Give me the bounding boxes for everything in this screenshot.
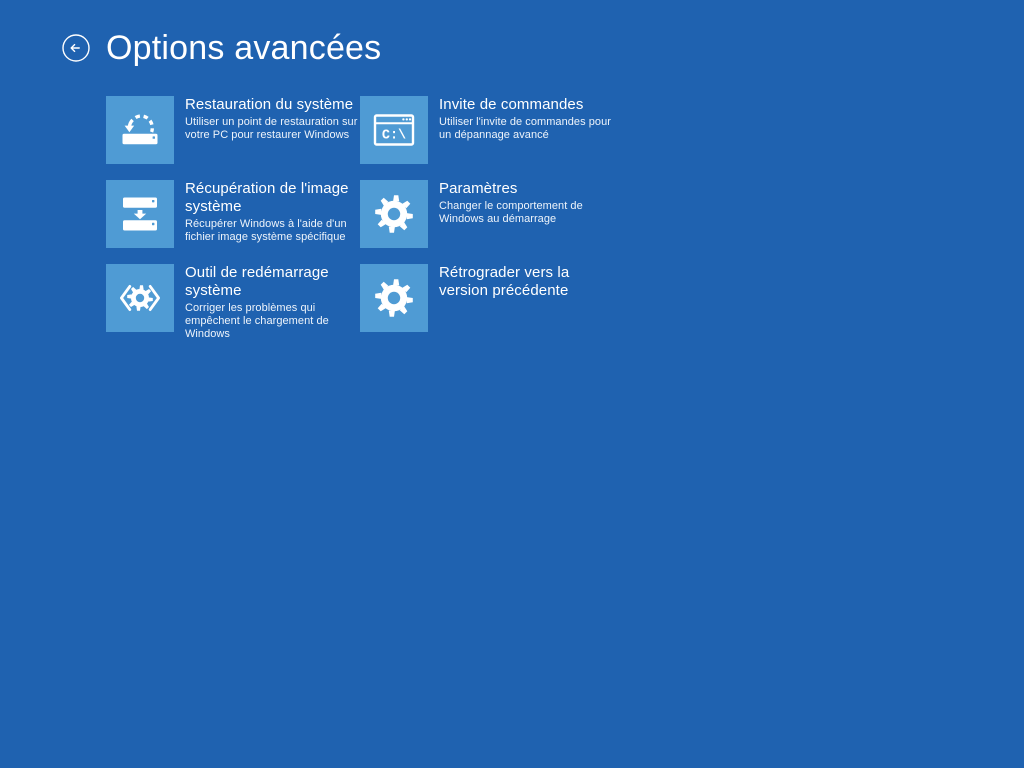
tile-description: Récupérer Windows à l'aide d'un fichier … xyxy=(185,218,360,244)
startup-repair-icon xyxy=(106,264,174,332)
tile-system-image-recovery[interactable]: Récupération de l'image système Récupére… xyxy=(106,180,360,264)
tile-text: Restauration du système Utiliser un poin… xyxy=(174,96,360,142)
tile-text: Rétrograder vers la version précédente xyxy=(428,264,614,302)
tile-go-back-previous-version[interactable]: Rétrograder vers la version précédente xyxy=(360,264,614,348)
tile-description: Corriger les problèmes qui empêchent le … xyxy=(185,302,360,341)
tile-title: Paramètres xyxy=(439,180,614,198)
tile-row: Récupération de l'image système Récupére… xyxy=(106,180,806,264)
tile-title: Récupération de l'image système xyxy=(185,180,360,216)
tile-title: Rétrograder vers la version précédente xyxy=(439,264,614,300)
tile-startup-settings[interactable]: Paramètres Changer le comportement de Wi… xyxy=(360,180,614,264)
tile-description: Changer le comportement de Windows au dé… xyxy=(439,200,614,226)
tile-text: Récupération de l'image système Récupére… xyxy=(174,180,360,244)
tile-startup-repair[interactable]: Outil de redémarrage système Corriger le… xyxy=(106,264,360,348)
page-title: Options avancées xyxy=(106,31,381,65)
command-prompt-icon: C:\ xyxy=(360,96,428,164)
tile-row: Outil de redémarrage système Corriger le… xyxy=(106,264,806,348)
svg-text:C:\: C:\ xyxy=(382,128,406,143)
back-arrow-circle-icon[interactable] xyxy=(60,32,92,64)
system-image-recovery-icon xyxy=(106,180,174,248)
tile-text: Outil de redémarrage système Corriger le… xyxy=(174,264,360,341)
tile-description: Utiliser un point de restauration sur vo… xyxy=(185,116,360,142)
advanced-options-tile-grid: Restauration du système Utiliser un poin… xyxy=(106,96,806,348)
tile-row: Restauration du système Utiliser un poin… xyxy=(106,96,806,180)
tile-command-prompt[interactable]: C:\ Invite de commandes Utiliser l'invit… xyxy=(360,96,614,180)
tile-system-restore[interactable]: Restauration du système Utiliser un poin… xyxy=(106,96,360,180)
tile-description: Utiliser l'invite de commandes pour un d… xyxy=(439,116,614,142)
tile-title: Invite de commandes xyxy=(439,96,614,114)
tile-text: Invite de commandes Utiliser l'invite de… xyxy=(428,96,614,142)
tile-title: Restauration du système xyxy=(185,96,360,114)
page-header: Options avancées xyxy=(60,22,381,74)
tile-title: Outil de redémarrage système xyxy=(185,264,360,300)
system-restore-icon xyxy=(106,96,174,164)
settings-gear-icon xyxy=(360,180,428,248)
tile-text: Paramètres Changer le comportement de Wi… xyxy=(428,180,614,226)
rollback-gear-icon xyxy=(360,264,428,332)
